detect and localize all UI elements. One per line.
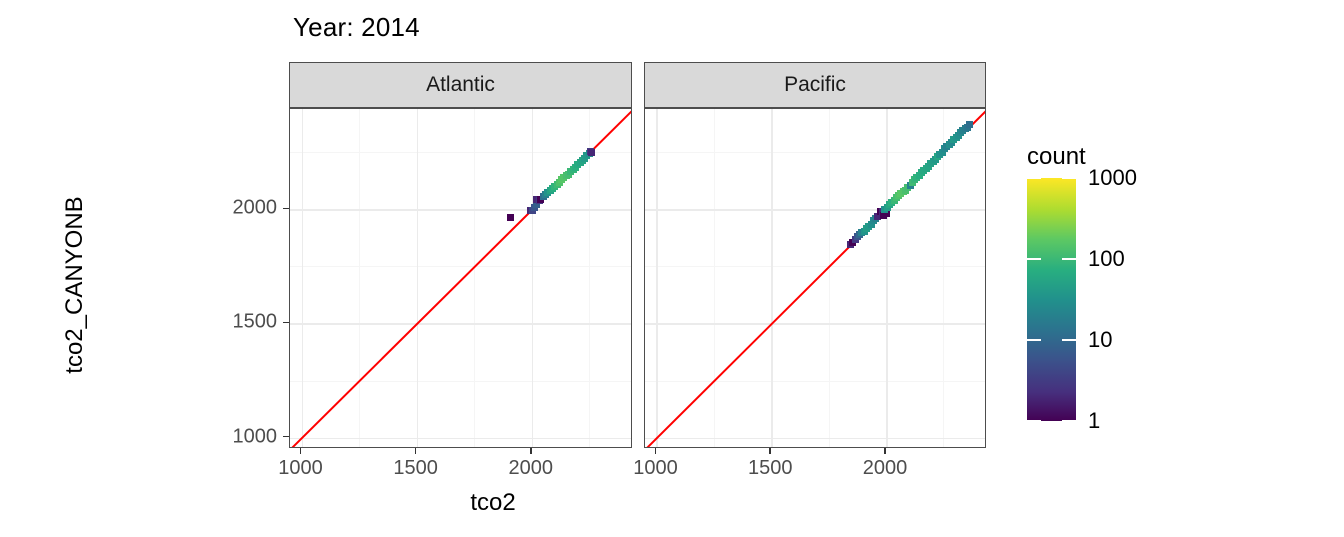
- gridline-minor-vertical: [714, 109, 715, 447]
- x-axis-title: tco2: [0, 489, 986, 517]
- legend-tick-mark: [1027, 177, 1041, 179]
- data-bin: [588, 149, 595, 156]
- x-tick-mark: [530, 448, 532, 454]
- plot-panel-atlantic: [289, 108, 632, 448]
- y-axis-title: tco2_CANYONB: [61, 115, 89, 455]
- x-tick-mark: [884, 448, 886, 454]
- legend-tick-mark: [1062, 339, 1076, 341]
- gridline-major-horizontal: [645, 323, 985, 325]
- legend-tick-mark: [1062, 420, 1076, 422]
- gridline-major-horizontal: [290, 209, 631, 211]
- x-tick-label: 2000: [508, 457, 553, 480]
- facet-strip-pacific: Pacific: [644, 62, 986, 108]
- plot-panel-pacific: [644, 108, 986, 448]
- legend-tick-mark: [1027, 258, 1041, 260]
- gridline-minor-vertical: [474, 109, 475, 447]
- legend-tick-label: 10: [1088, 327, 1112, 353]
- legend-tick-mark: [1027, 339, 1041, 341]
- gridline-minor-horizontal: [645, 266, 985, 267]
- x-tick-label: 1000: [633, 457, 678, 480]
- gridline-minor-vertical: [589, 109, 590, 447]
- legend-colorbar: [1027, 178, 1076, 421]
- gridline-major-vertical: [771, 109, 773, 447]
- legend-title: count: [1027, 143, 1086, 171]
- gridline-major-vertical: [532, 109, 534, 447]
- x-tick-label: 1500: [748, 457, 793, 480]
- panel-content: [290, 109, 631, 447]
- page-title: Year: 2014: [293, 12, 420, 43]
- facet-strip-label: Atlantic: [426, 73, 495, 97]
- x-tick-mark: [415, 448, 417, 454]
- x-tick-label: 1500: [393, 457, 438, 480]
- data-bin: [966, 121, 973, 128]
- facet-strip-atlantic: Atlantic: [289, 62, 632, 108]
- gridline-major-horizontal: [645, 209, 985, 211]
- gridline-major-vertical: [886, 109, 888, 447]
- legend-tick-label: 1: [1088, 408, 1100, 434]
- data-bin: [507, 214, 514, 221]
- gridline-minor-horizontal: [290, 152, 631, 153]
- legend-tick-mark: [1062, 177, 1076, 179]
- gridline-major-vertical: [302, 109, 304, 447]
- gridline-minor-vertical: [359, 109, 360, 447]
- gridline-major-horizontal: [645, 438, 985, 440]
- x-tick-label: 2000: [863, 457, 908, 480]
- gridline-minor-horizontal: [290, 266, 631, 267]
- x-tick-mark: [769, 448, 771, 454]
- gridline-minor-vertical: [943, 109, 944, 447]
- x-tick-mark: [300, 448, 302, 454]
- facet-strip-label: Pacific: [784, 73, 846, 97]
- legend-tick-label: 100: [1088, 246, 1125, 272]
- gridline-minor-horizontal: [290, 381, 631, 382]
- y-tick-label: 1000: [233, 425, 278, 448]
- y-tick-label: 1500: [233, 311, 278, 334]
- gridline-major-vertical: [417, 109, 419, 447]
- gridline-major-vertical: [656, 109, 658, 447]
- gridline-minor-horizontal: [645, 381, 985, 382]
- legend-tick-mark: [1062, 258, 1076, 260]
- x-tick-label: 1000: [278, 457, 323, 480]
- legend-tick-mark: [1027, 420, 1041, 422]
- gridline-minor-vertical: [829, 109, 830, 447]
- panel-content: [645, 109, 985, 447]
- gridline-major-horizontal: [290, 438, 631, 440]
- y-tick-label: 2000: [233, 197, 278, 220]
- chart-root: Year: 2014 tco2_CANYONB tco2 10001500200…: [0, 0, 1344, 537]
- legend-tick-label: 1000: [1088, 165, 1137, 191]
- gridline-major-horizontal: [290, 323, 631, 325]
- x-tick-mark: [655, 448, 657, 454]
